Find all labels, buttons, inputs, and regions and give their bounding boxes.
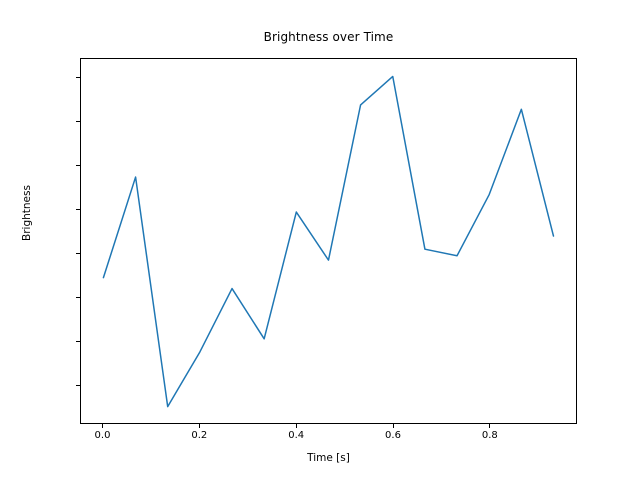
y-axis-label: Brightness [21, 113, 33, 313]
x-tick-label: 0.8 [470, 430, 510, 441]
x-axis-label: Time [s] [80, 452, 577, 464]
x-tick-mark [393, 424, 394, 428]
x-tick-label: 0.4 [276, 430, 316, 441]
chart-title: Brightness over Time [80, 30, 577, 44]
x-tick-mark [296, 424, 297, 428]
series-polyline [103, 76, 553, 406]
matplotlib-figure: Brightness over Time Brightness Time [s]… [0, 0, 640, 480]
x-tick-label: 0.2 [179, 430, 219, 441]
x-tick-mark [199, 424, 200, 428]
x-tick-label: 0.6 [373, 430, 413, 441]
line-series-brightness [81, 59, 576, 423]
x-tick-mark [489, 424, 490, 428]
x-tick-mark [102, 424, 103, 428]
plot-area [80, 58, 577, 424]
x-tick-label: 0.0 [83, 430, 123, 441]
